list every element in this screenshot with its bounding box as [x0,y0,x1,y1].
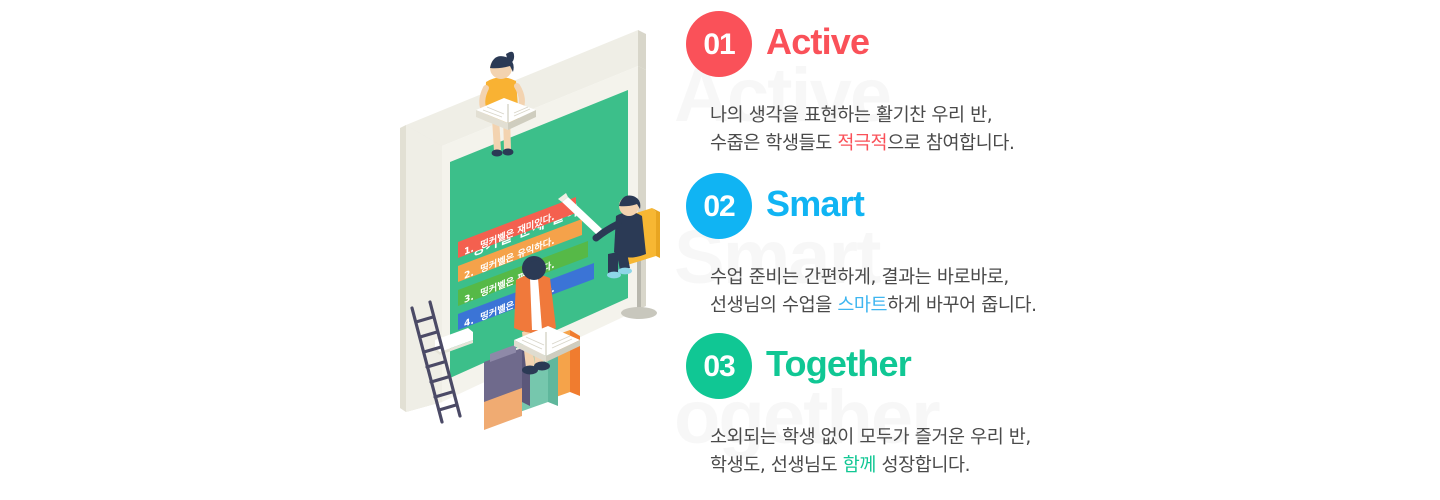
feature-body-highlight-together: 함께 [843,455,876,476]
feature-body-line1-smart: 수업 준비는 간편하게, 결과는 바로바로, [710,267,1009,288]
classroom-illustration: 띵커벨 문제 풀이 1. 띵커벨은 재미있다. 2. 띵커벨은 유익하다. [380,10,700,440]
badge-02: 02 [686,173,752,239]
page-root: 띵커벨 문제 풀이 1. 띵커벨은 재미있다. 2. 띵커벨은 유익하다. [0,0,1440,500]
feature-body-highlight-smart: 스마트 [837,295,887,316]
feature-title-active: Active [766,24,869,60]
feature-block-together: ogether 03 Together 소외되는 학생 없이 모두가 즐거운 우… [686,330,1206,480]
feature-body-line2-pre-active: 수줍은 학생들도 [710,133,837,154]
badge-number-01: 01 [703,30,734,60]
feature-body-line2-post-smart: 하게 바꾸어 줍니다. [887,295,1036,316]
feature-head-smart: 02 Smart [686,170,1206,242]
feature-title-smart: Smart [766,186,864,222]
feature-head-together: 03 Together [686,330,1206,402]
feature-body-highlight-active: 적극적 [837,133,887,154]
feature-body-line2-post-together: 성장합니다. [876,455,970,476]
feature-title-together: Together [766,346,911,382]
badge-01: 01 [686,11,752,77]
feature-body-line2-pre-smart: 선생님의 수업을 [710,295,837,316]
badge-03: 03 [686,333,752,399]
badge-number-02: 02 [703,192,734,222]
feature-body-active: 나의 생각을 표현하는 활기찬 우리 반,수줍은 학생들도 적극적으로 참여합니… [710,102,1206,158]
feature-block-smart: Smart 02 Smart 수업 준비는 간편하게, 결과는 바로바로,선생님… [686,170,1206,320]
feature-body-line2-pre-together: 학생도, 선생님도 [710,455,843,476]
feature-head-active: 01 Active [686,8,1206,80]
feature-body-line1-together: 소외되는 학생 없이 모두가 즐거운 우리 반, [710,427,1031,448]
feature-body-line2-post-active: 으로 참여합니다. [887,133,1014,154]
badge-number-03: 03 [703,352,734,382]
feature-body-line1-active: 나의 생각을 표현하는 활기찬 우리 반, [710,105,992,126]
feature-body-smart: 수업 준비는 간편하게, 결과는 바로바로,선생님의 수업을 스마트하게 바꾸어… [710,264,1206,320]
feature-block-active: Active 01 Active 나의 생각을 표현하는 활기찬 우리 반,수줍… [686,8,1206,158]
feature-body-together: 소외되는 학생 없이 모두가 즐거운 우리 반,학생도, 선생님도 함께 성장합… [710,424,1206,480]
